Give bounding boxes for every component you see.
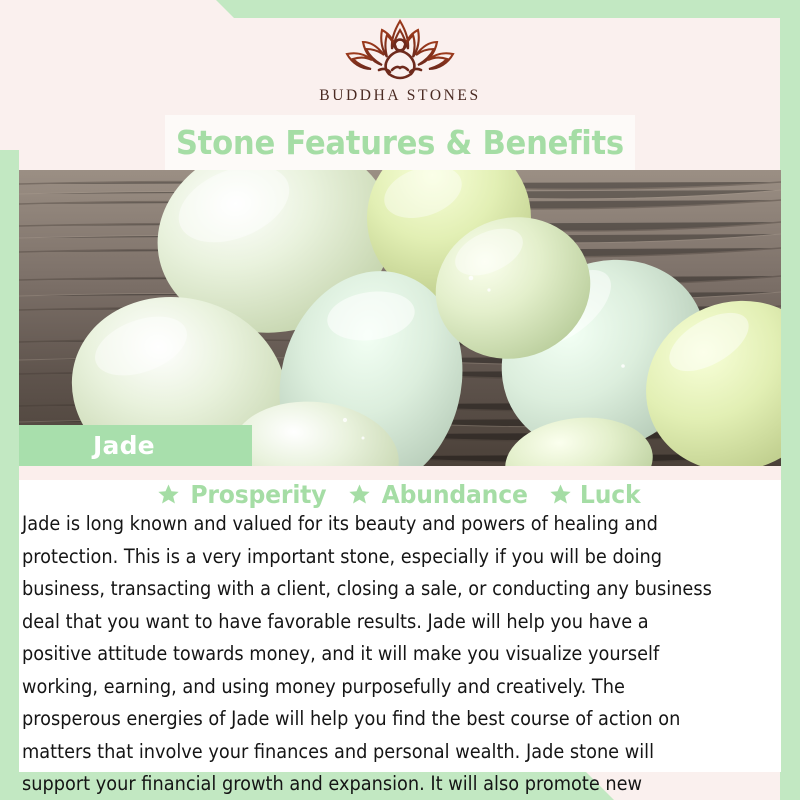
benefit-item: Abundance: [348, 480, 532, 509]
benefit-label: Abundance: [382, 480, 528, 509]
stone-name-badge: Jade: [19, 425, 252, 466]
lotus-meditation-icon: [335, 18, 465, 84]
brand-name: BUDDHA STONES: [319, 87, 480, 105]
decorative-left-green-strip: [0, 176, 19, 800]
star-icon: [348, 483, 371, 506]
star-icon: [157, 483, 180, 506]
stone-description: Jade is long known and valued for its be…: [22, 508, 719, 800]
star-icon: [549, 483, 572, 506]
stone-photo: [19, 170, 781, 466]
stone-info-poster: BUDDHA STONES Stone Features & Benefits: [0, 0, 800, 800]
section-title-banner: Stone Features & Benefits: [165, 115, 635, 170]
decorative-right-green-strip: [780, 18, 800, 800]
section-title: Stone Features & Benefits: [176, 123, 624, 162]
benefit-label: Luck: [580, 480, 641, 509]
benefit-item: Luck: [549, 480, 642, 509]
benefit-label: Prosperity: [191, 480, 327, 509]
brand-header: BUDDHA STONES: [0, 0, 800, 118]
benefit-item: Prosperity: [157, 480, 331, 509]
benefits-row: Prosperity Abundance Luck: [19, 478, 781, 510]
stone-name: Jade: [19, 431, 155, 460]
